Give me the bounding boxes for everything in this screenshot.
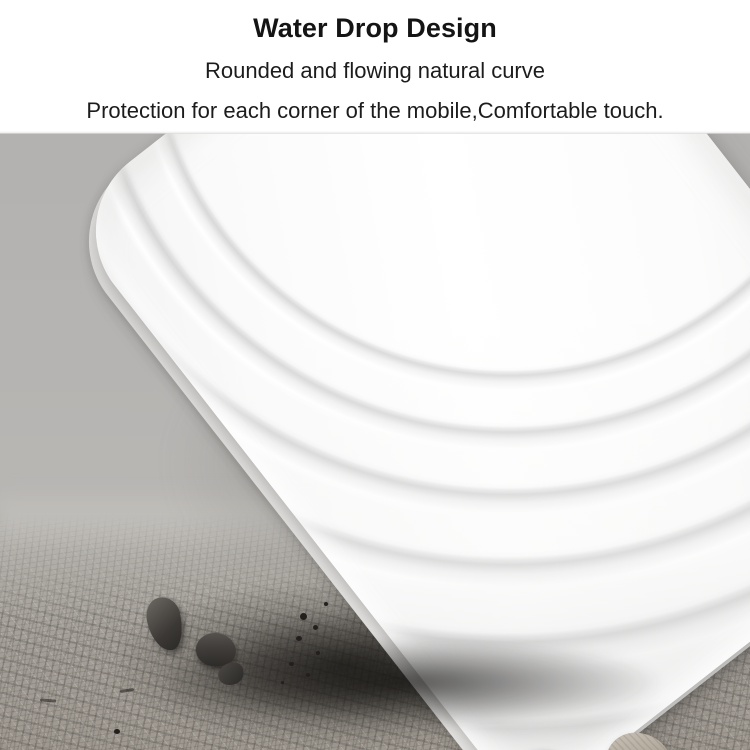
debris-speck <box>281 681 284 684</box>
case-contact-shadow <box>170 633 690 743</box>
debris-speck <box>324 602 328 606</box>
debris-speck <box>313 625 318 630</box>
product-photo-scene <box>0 133 750 750</box>
header-divider <box>0 131 750 134</box>
debris-speck <box>316 651 320 655</box>
header-text-band: Water Drop Design Rounded and flowing na… <box>0 0 750 133</box>
debris-speck <box>114 729 120 734</box>
debris-speck <box>300 613 307 620</box>
description-text: Protection for each corner of the mobile… <box>0 97 750 124</box>
debris-speck <box>296 636 302 641</box>
debris-speck <box>289 662 294 666</box>
debris-speck <box>306 673 310 677</box>
product-marketing-image: Water Drop Design Rounded and flowing na… <box>0 0 750 750</box>
page-title: Water Drop Design <box>0 12 750 44</box>
subtitle-text: Rounded and flowing natural curve <box>0 57 750 84</box>
